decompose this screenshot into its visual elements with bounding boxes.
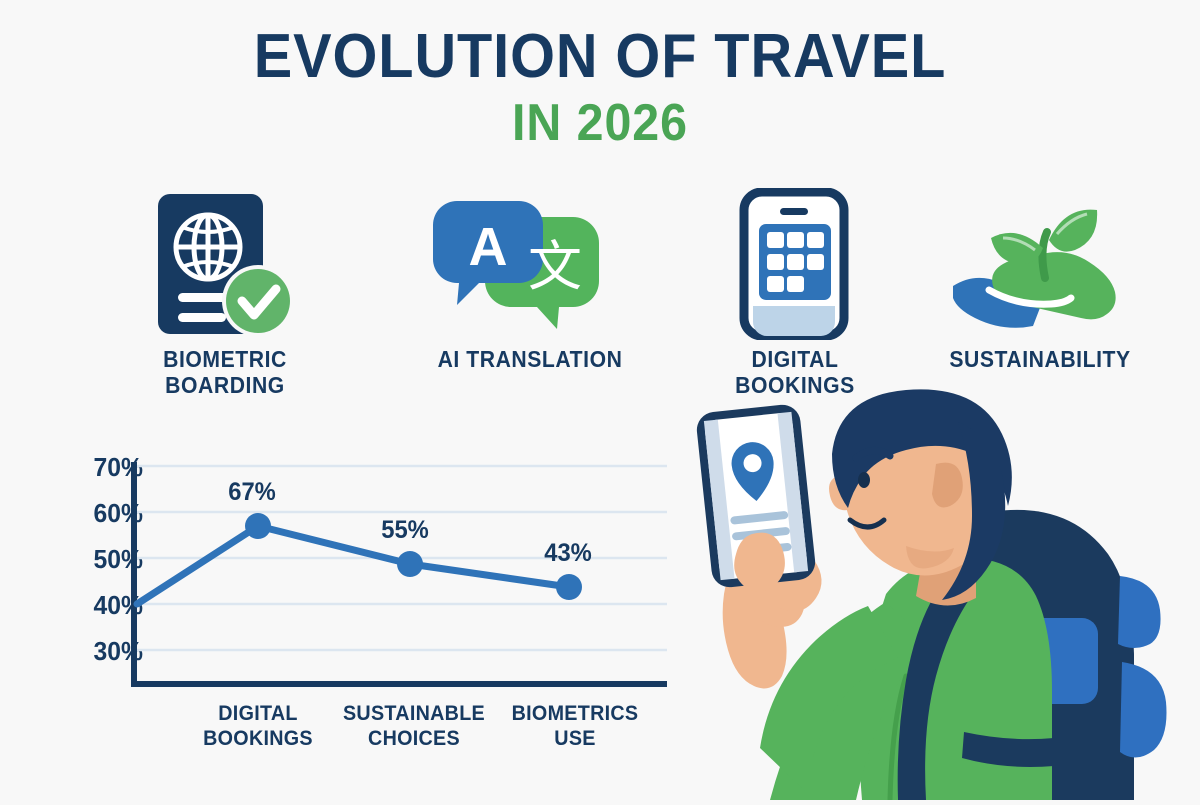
chart-plot-area: [55, 440, 705, 700]
smartphone-device[interactable]: [695, 403, 817, 591]
chart-x-label-sustainable-choices: SUSTAINABLE CHOICES: [325, 702, 504, 752]
chart-x-label-line-1: DIGITAL: [169, 702, 348, 727]
hand-plant-icon: [915, 186, 1165, 341]
chart-series-line: [137, 526, 569, 604]
chart-x-label-line-1: SUSTAINABLE: [325, 702, 504, 727]
translation-cjk-glyph: 文: [528, 235, 582, 298]
feature-item-sustainability[interactable]: SUSTAINABILITY: [915, 186, 1165, 373]
feature-label-line-1: AI TRANSLATION: [415, 347, 645, 373]
feature-label-line-1: BIOMETRIC: [110, 347, 340, 373]
smartphone-grid-icon: [670, 186, 920, 341]
chart-data-label-1: 55%: [381, 516, 429, 545]
chart-marker-digital-bookings[interactable]: [245, 513, 271, 539]
feature-label-ai-translation: AI TRANSLATION: [415, 347, 645, 373]
chart-marker-sustainable-choices[interactable]: [397, 551, 423, 577]
chart-x-label-biometrics-use: BIOMETRICS USE: [486, 702, 665, 752]
chart-x-label-line-2: USE: [486, 727, 665, 752]
passport-check-icon: [100, 186, 350, 341]
feature-label-line-2: BOARDING: [110, 373, 340, 399]
chart-x-label-digital-bookings: DIGITAL BOOKINGS: [169, 702, 348, 752]
trends-line-chart: 70% 60% 50% 40% 30% 67% 5: [55, 440, 705, 770]
chart-x-label-line-2: CHOICES: [325, 727, 504, 752]
translation-bubbles-icon: A 文: [405, 186, 655, 341]
chart-data-label-2: 43%: [544, 539, 592, 568]
feature-item-biometric-boarding[interactable]: BIOMETRIC BOARDING: [100, 186, 350, 399]
chart-x-label-line-1: BIOMETRICS: [486, 702, 665, 727]
feature-label-line-1: SUSTAINABILITY: [925, 347, 1155, 373]
feature-label-sustainability: SUSTAINABILITY: [925, 347, 1155, 373]
page-title: EVOLUTION OF TRAVEL IN 2026: [0, 26, 1200, 154]
traveler-illustration: [690, 380, 1200, 800]
translation-latin-glyph: A: [468, 217, 507, 277]
feature-item-digital-bookings[interactable]: DIGITAL BOOKINGS: [670, 186, 920, 399]
feature-label-biometric-boarding: BIOMETRIC BOARDING: [110, 347, 340, 399]
chart-x-label-line-2: BOOKINGS: [169, 727, 348, 752]
title-line-primary: EVOLUTION OF TRAVEL: [42, 26, 1158, 88]
title-line-secondary: IN 2026: [42, 94, 1158, 154]
chart-marker-biometrics-use[interactable]: [556, 574, 582, 600]
head: [829, 389, 1012, 600]
chart-data-label-0: 67%: [228, 478, 276, 507]
feature-item-ai-translation[interactable]: A 文 AI TRANSLATION: [405, 186, 655, 373]
feature-label-line-1: DIGITAL: [680, 347, 910, 373]
infographic-canvas: EVOLUTION OF TRAVEL IN 2026: [0, 0, 1200, 800]
